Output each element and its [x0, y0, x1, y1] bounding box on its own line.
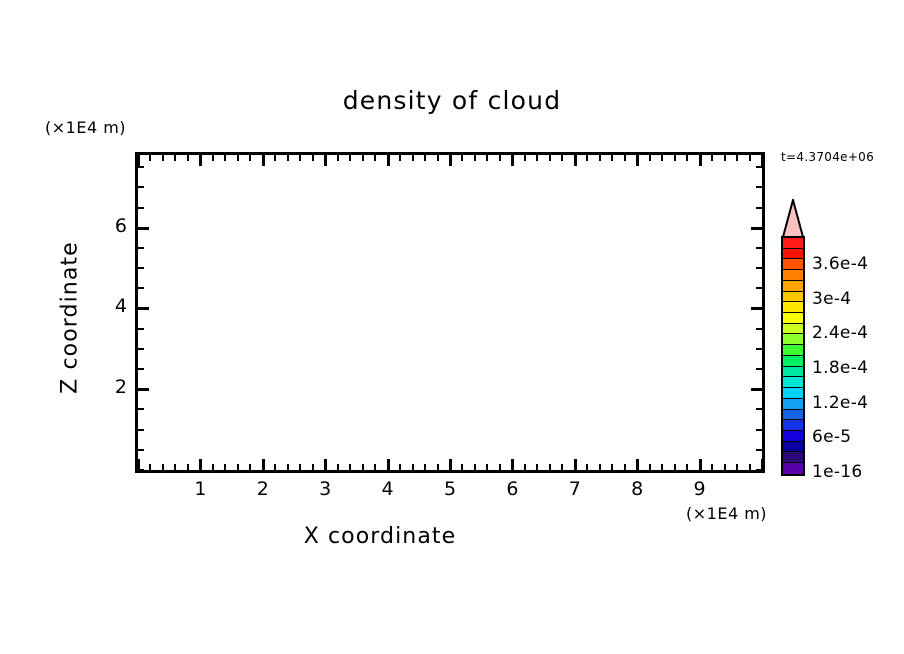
- x-minor-tick-top: [424, 155, 426, 161]
- x-minor-tick: [536, 464, 538, 470]
- x-minor-tick-top: [711, 155, 713, 161]
- x-major-tick-top: [636, 155, 639, 166]
- y-minor-tick-right: [756, 328, 762, 330]
- time-annotation: t=4.3704e+06: [781, 150, 874, 164]
- colorbar-segment: [783, 442, 803, 453]
- colorbar-arrow-icon: [781, 199, 805, 238]
- colorbar-segment: [783, 388, 803, 399]
- x-minor-tick: [162, 464, 164, 470]
- y-minor-tick-right: [756, 348, 762, 350]
- colorbar-segment: [783, 281, 803, 292]
- colorbar-segment: [783, 399, 803, 410]
- x-minor-tick: [599, 464, 601, 470]
- x-major-tick: [324, 459, 327, 470]
- x-minor-tick-top: [337, 155, 339, 161]
- x-minor-tick: [399, 464, 401, 470]
- x-major-tick: [262, 459, 265, 470]
- x-minor-tick-top: [649, 155, 651, 161]
- x-minor-tick-top: [187, 155, 189, 161]
- x-minor-tick: [474, 464, 476, 470]
- colorbar-tick-label: 1.8e-4: [812, 358, 868, 378]
- x-minor-tick-top: [661, 155, 663, 161]
- colorbar-segment: [783, 420, 803, 431]
- x-major-tick-top: [324, 155, 327, 166]
- colorbar-segment: [783, 345, 803, 356]
- x-major-tick-top: [199, 155, 202, 166]
- page-title: density of cloud: [0, 86, 904, 115]
- colorbar-segment: [783, 356, 803, 367]
- y-major-tick: [138, 307, 149, 310]
- x-minor-tick: [749, 464, 751, 470]
- x-minor-tick: [724, 464, 726, 470]
- y-minor-tick-right: [756, 368, 762, 370]
- x-minor-tick: [524, 464, 526, 470]
- x-minor-tick-top: [611, 155, 613, 161]
- y-minor-tick: [138, 247, 144, 249]
- x-minor-tick-top: [686, 155, 688, 161]
- y-minor-tick-right: [756, 429, 762, 431]
- x-minor-tick: [174, 464, 176, 470]
- x-tick-label: 8: [622, 478, 652, 500]
- colorbar-segment: [783, 270, 803, 281]
- x-minor-tick: [437, 464, 439, 470]
- y-minor-tick: [138, 287, 144, 289]
- colorbar-segment: [783, 313, 803, 324]
- x-minor-tick-top: [162, 155, 164, 161]
- x-minor-tick-top: [461, 155, 463, 161]
- x-minor-tick: [249, 464, 251, 470]
- y-minor-tick: [138, 449, 144, 451]
- y-major-tick: [138, 388, 149, 391]
- colorbar-segment: [783, 249, 803, 260]
- y-minor-tick-right: [756, 449, 762, 451]
- x-minor-tick: [237, 464, 239, 470]
- colorbar-tick-label: 1.2e-4: [812, 393, 868, 413]
- x-tick-label: 3: [310, 478, 340, 500]
- x-minor-tick-top: [536, 155, 538, 161]
- x-minor-tick-top: [412, 155, 414, 161]
- colorbar-tick-label: 1e-16: [812, 462, 863, 482]
- x-major-tick-top: [449, 155, 452, 166]
- x-minor-tick-top: [362, 155, 364, 161]
- colorbar-segment: [783, 377, 803, 388]
- y-major-tick: [138, 227, 149, 230]
- colorbar-segment: [783, 292, 803, 303]
- x-minor-tick: [711, 464, 713, 470]
- x-minor-tick: [187, 464, 189, 470]
- x-minor-tick: [299, 464, 301, 470]
- colorbar-segment: [783, 324, 803, 335]
- colorbar-segment: [783, 238, 803, 249]
- y-axis-title: Z coordinate: [58, 208, 83, 428]
- x-minor-tick: [287, 464, 289, 470]
- x-major-tick-top: [761, 155, 764, 166]
- colorbar-segment: [783, 302, 803, 313]
- y-minor-tick-right: [756, 267, 762, 269]
- y-major-tick-right: [751, 227, 762, 230]
- x-minor-tick: [649, 464, 651, 470]
- x-major-tick: [511, 459, 514, 470]
- y-minor-tick: [138, 408, 144, 410]
- y-minor-tick: [138, 429, 144, 431]
- x-major-tick: [636, 459, 639, 470]
- x-tick-label: 4: [373, 478, 403, 500]
- y-axis-unit-label: (×1E4 m): [45, 118, 126, 137]
- x-minor-tick-top: [724, 155, 726, 161]
- x-minor-tick-top: [599, 155, 601, 161]
- x-minor-tick: [499, 464, 501, 470]
- x-axis-title: X coordinate: [0, 524, 760, 549]
- y-tick-label: 2: [97, 376, 127, 398]
- x-minor-tick: [374, 464, 376, 470]
- x-minor-tick: [349, 464, 351, 470]
- x-minor-tick-top: [274, 155, 276, 161]
- x-major-tick: [574, 459, 577, 470]
- x-minor-tick-top: [624, 155, 626, 161]
- x-major-tick: [387, 459, 390, 470]
- x-minor-tick-top: [349, 155, 351, 161]
- x-minor-tick: [686, 464, 688, 470]
- x-tick-label: 1: [185, 478, 215, 500]
- x-minor-tick-top: [549, 155, 551, 161]
- x-minor-tick-top: [249, 155, 251, 161]
- colorbar-segment: [783, 259, 803, 270]
- x-minor-tick-top: [287, 155, 289, 161]
- x-minor-tick: [549, 464, 551, 470]
- x-minor-tick: [561, 464, 563, 470]
- x-tick-label: 9: [685, 478, 715, 500]
- x-minor-tick-top: [174, 155, 176, 161]
- x-minor-tick: [611, 464, 613, 470]
- x-minor-tick-top: [499, 155, 501, 161]
- x-minor-tick-top: [474, 155, 476, 161]
- x-axis-unit-label: (×1E4 m): [686, 504, 767, 523]
- x-major-tick-top: [137, 155, 140, 166]
- x-minor-tick-top: [299, 155, 301, 161]
- y-minor-tick-right: [756, 166, 762, 168]
- x-minor-tick: [424, 464, 426, 470]
- x-major-tick: [699, 459, 702, 470]
- y-minor-tick-right: [756, 186, 762, 188]
- colorbar-segment: [783, 463, 803, 474]
- x-minor-tick: [486, 464, 488, 470]
- x-minor-tick: [586, 464, 588, 470]
- colorbar-segment: [783, 431, 803, 442]
- y-minor-tick: [138, 207, 144, 209]
- x-tick-label: 5: [435, 478, 465, 500]
- figure-canvas: density of cloud (×1E4 m) t=4.3704e+06 1…: [0, 0, 904, 654]
- x-minor-tick-top: [486, 155, 488, 161]
- y-minor-tick: [138, 368, 144, 370]
- y-minor-tick: [138, 328, 144, 330]
- x-minor-tick: [362, 464, 364, 470]
- x-minor-tick: [149, 464, 151, 470]
- x-minor-tick: [412, 464, 414, 470]
- x-major-tick: [199, 459, 202, 470]
- colorbar-segment: [783, 410, 803, 421]
- y-major-tick-right: [751, 307, 762, 310]
- colorbar-tick-label: 3e-4: [812, 289, 851, 309]
- x-major-tick: [449, 459, 452, 470]
- x-minor-tick-top: [749, 155, 751, 161]
- x-minor-tick: [212, 464, 214, 470]
- y-minor-tick: [138, 348, 144, 350]
- colorbar[interactable]: [781, 236, 805, 476]
- x-minor-tick-top: [586, 155, 588, 161]
- x-minor-tick-top: [149, 155, 151, 161]
- colorbar-tick-label: 6e-5: [812, 427, 851, 447]
- x-minor-tick-top: [237, 155, 239, 161]
- x-tick-label: 2: [248, 478, 278, 500]
- x-major-tick-top: [387, 155, 390, 166]
- x-minor-tick: [224, 464, 226, 470]
- x-major-tick-top: [511, 155, 514, 166]
- y-minor-tick: [138, 166, 144, 168]
- colorbar-tick-label: 2.4e-4: [812, 323, 868, 343]
- x-minor-tick: [624, 464, 626, 470]
- x-tick-label: 7: [560, 478, 590, 500]
- colorbar-tick-label: 3.6e-4: [812, 254, 868, 274]
- x-minor-tick: [674, 464, 676, 470]
- plot-frame: [135, 152, 765, 473]
- x-minor-tick-top: [674, 155, 676, 161]
- y-minor-tick-right: [756, 408, 762, 410]
- x-tick-label: 6: [497, 478, 527, 500]
- y-major-tick-right: [751, 388, 762, 391]
- x-minor-tick-top: [736, 155, 738, 161]
- x-minor-tick-top: [437, 155, 439, 161]
- x-minor-tick-top: [561, 155, 563, 161]
- x-minor-tick-top: [399, 155, 401, 161]
- colorbar-segment: [783, 367, 803, 378]
- x-minor-tick: [736, 464, 738, 470]
- x-minor-tick: [274, 464, 276, 470]
- x-minor-tick-top: [312, 155, 314, 161]
- y-minor-tick-right: [756, 287, 762, 289]
- y-minor-tick-right: [756, 207, 762, 209]
- y-minor-tick: [138, 469, 144, 471]
- x-minor-tick-top: [224, 155, 226, 161]
- x-minor-tick-top: [374, 155, 376, 161]
- x-minor-tick-top: [524, 155, 526, 161]
- x-minor-tick: [312, 464, 314, 470]
- y-minor-tick: [138, 186, 144, 188]
- y-minor-tick-right: [756, 247, 762, 249]
- x-minor-tick-top: [212, 155, 214, 161]
- y-tick-label: 6: [97, 215, 127, 237]
- x-minor-tick: [337, 464, 339, 470]
- colorbar-segment: [783, 334, 803, 345]
- y-minor-tick: [138, 267, 144, 269]
- y-minor-tick-right: [756, 469, 762, 471]
- x-major-tick-top: [699, 155, 702, 166]
- x-minor-tick: [661, 464, 663, 470]
- x-major-tick-top: [262, 155, 265, 166]
- x-major-tick-top: [574, 155, 577, 166]
- x-minor-tick: [461, 464, 463, 470]
- y-tick-label: 4: [97, 295, 127, 317]
- colorbar-segment: [783, 452, 803, 463]
